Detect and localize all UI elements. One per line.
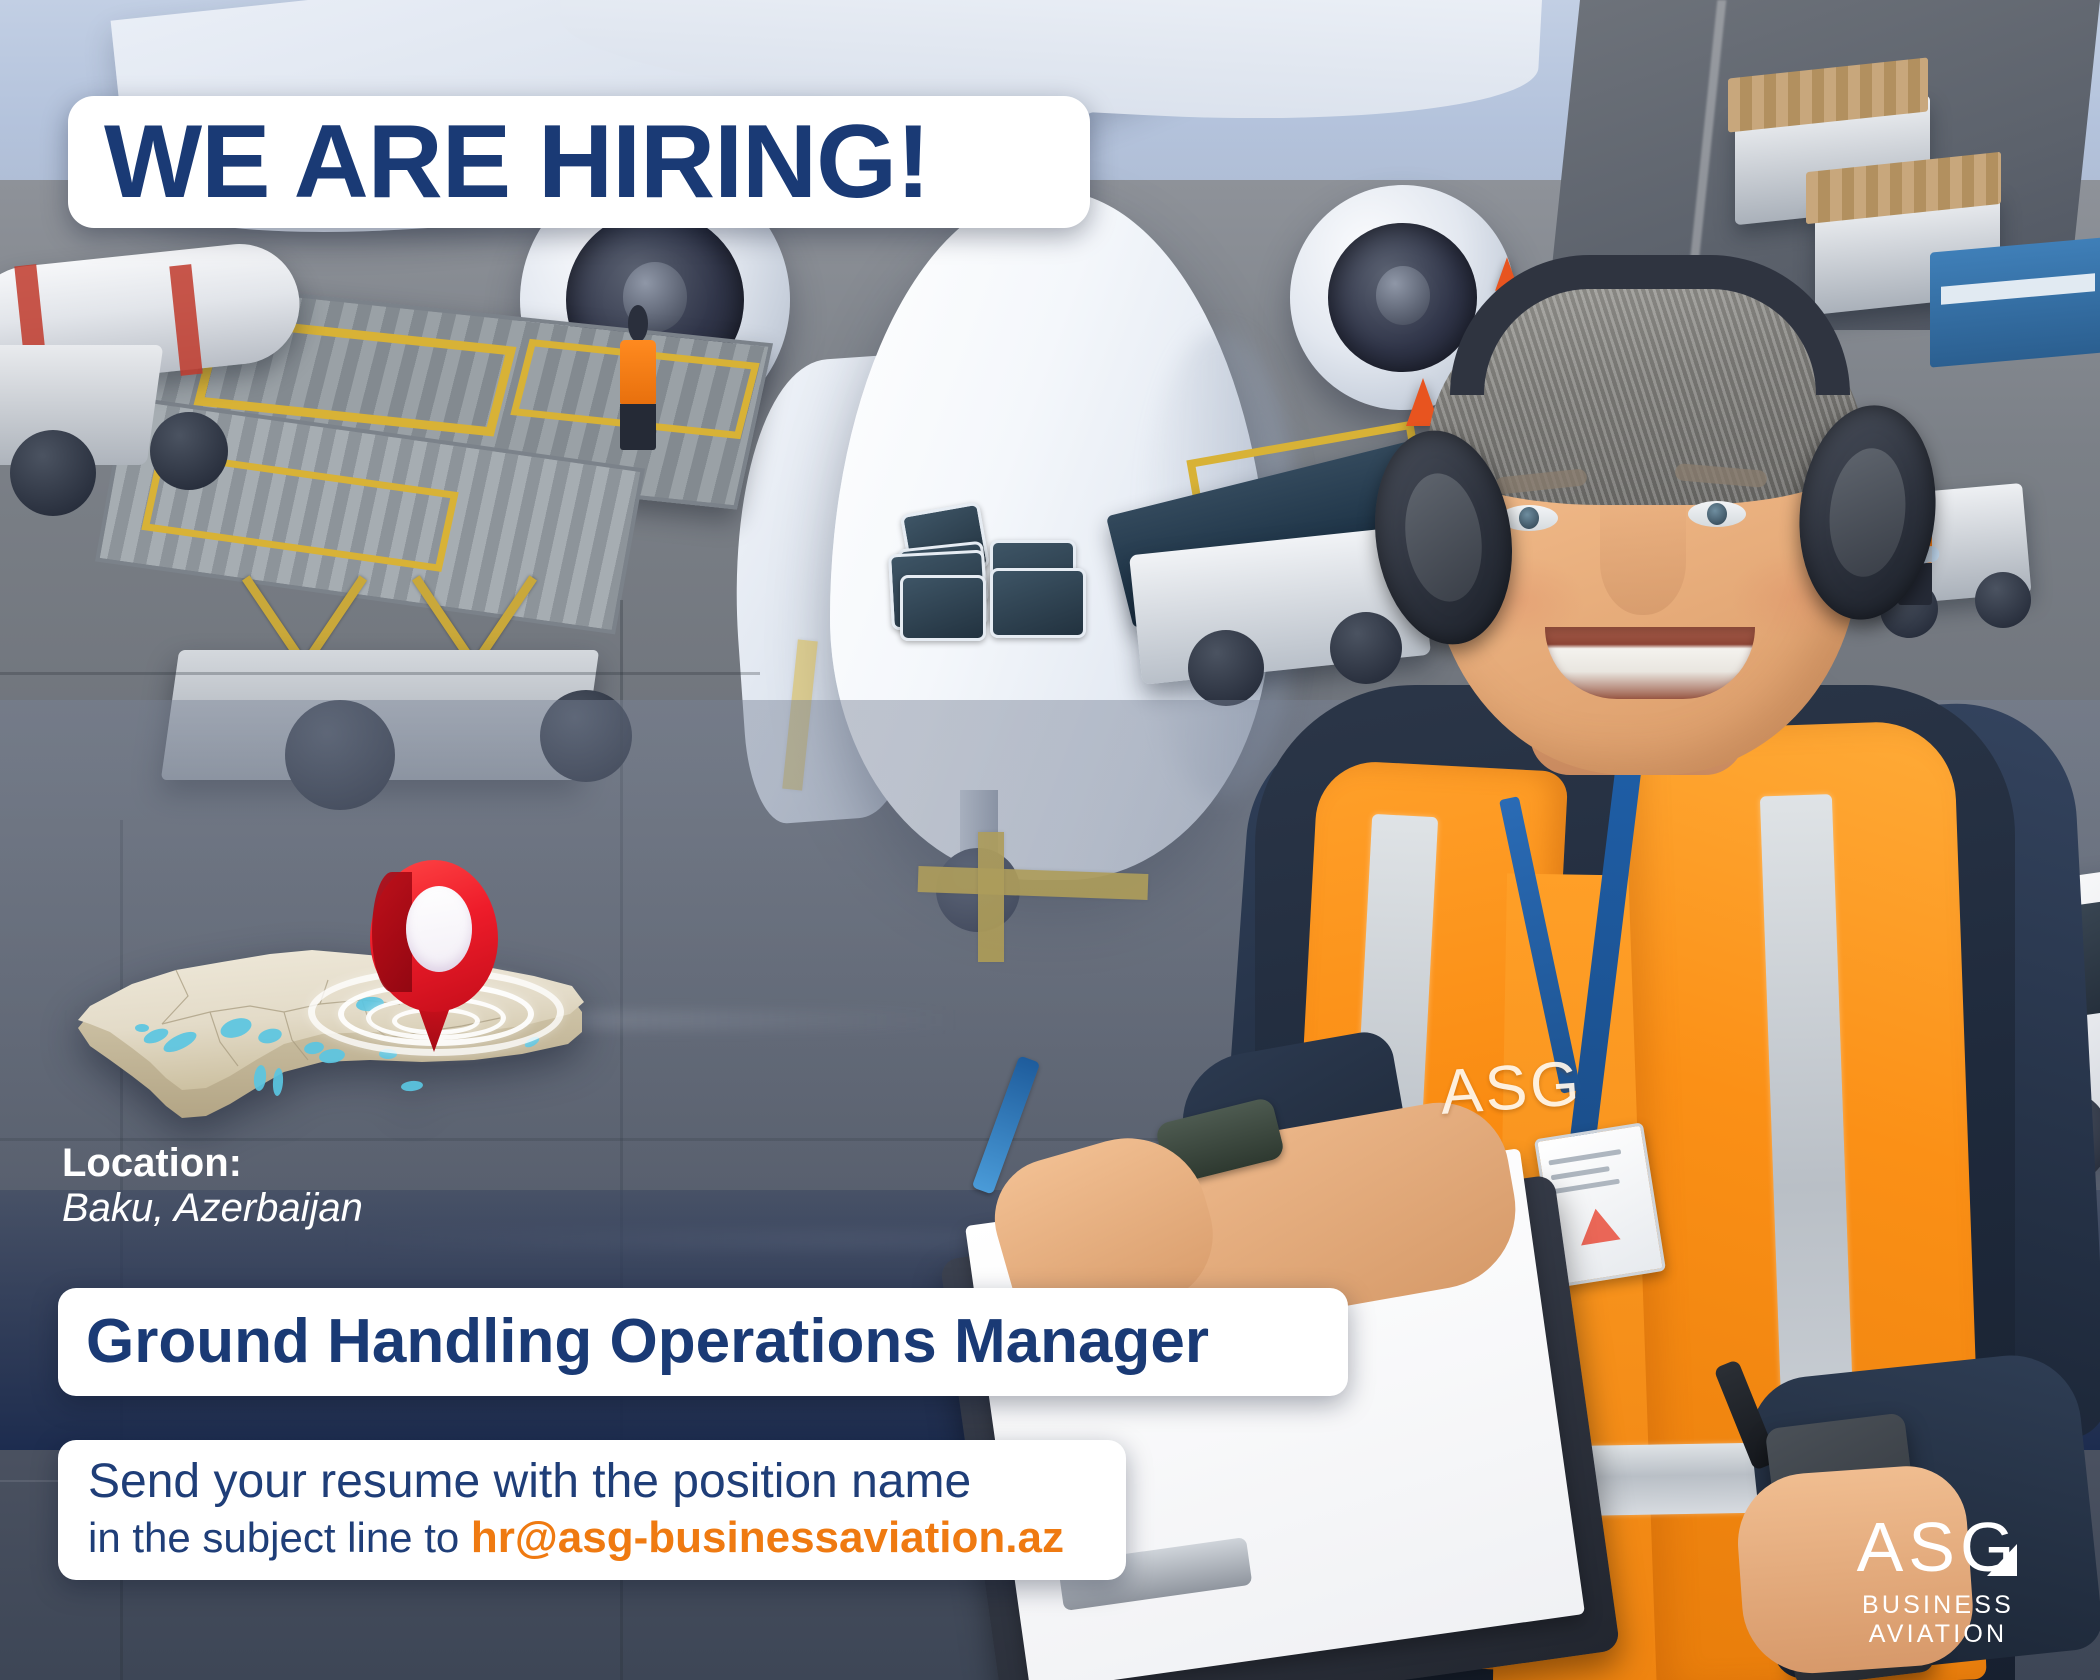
cta-line-2-prefix: in the subject line to <box>88 1514 471 1561</box>
location-map <box>70 860 600 1160</box>
page-title: WE ARE HIRING! <box>104 110 930 214</box>
wing-icon <box>1987 1544 2017 1576</box>
contact-instructions-box: Send your resume with the position name … <box>58 1440 1126 1580</box>
contact-email-link[interactable]: hr@asg-businessaviation.az <box>471 1513 1064 1562</box>
asg-logo-subtitle: BUSINESS AVIATION <box>1812 1591 2064 1649</box>
job-title-banner: Ground Handling Operations Manager <box>58 1288 1348 1396</box>
tanker-wheel <box>150 412 228 490</box>
asg-brand-logo: ASG BUSINESS AVIATION <box>1812 1512 2064 1632</box>
pavement-joint <box>0 672 760 675</box>
cta-line-1: Send your resume with the position name <box>88 1455 971 1509</box>
worker-nose <box>1600 505 1686 615</box>
headphones-headband-icon <box>1450 255 1850 395</box>
hiring-headline-banner: WE ARE HIRING! <box>68 96 1090 228</box>
hiring-poster: ASG <box>0 0 2100 1680</box>
asg-wordmark: ASG <box>1812 1512 2064 1582</box>
job-title: Ground Handling Operations Manager <box>86 1311 1209 1373</box>
worker-eye <box>1688 501 1746 527</box>
location-value: Baku, Azerbaijan <box>62 1185 363 1232</box>
cockpit-window <box>990 568 1086 638</box>
cta-line-2: in the subject line to hr@asg-businessav… <box>88 1512 1064 1565</box>
location-label: Location: <box>62 1142 363 1185</box>
vest-asg-logo: ASG <box>1438 1043 1643 1129</box>
ground-handling-worker <box>1200 255 2100 1680</box>
cockpit-window <box>900 575 986 641</box>
asg-mark-prefix: AS <box>1857 1512 1960 1582</box>
ground-crew-member <box>620 340 656 450</box>
location-block: Location: Baku, Azerbaijan <box>62 1142 363 1232</box>
asg-mark-g-wrapper: G <box>1960 1512 2019 1582</box>
location-pin-icon <box>370 860 498 1050</box>
tanker-wheel <box>10 430 96 516</box>
